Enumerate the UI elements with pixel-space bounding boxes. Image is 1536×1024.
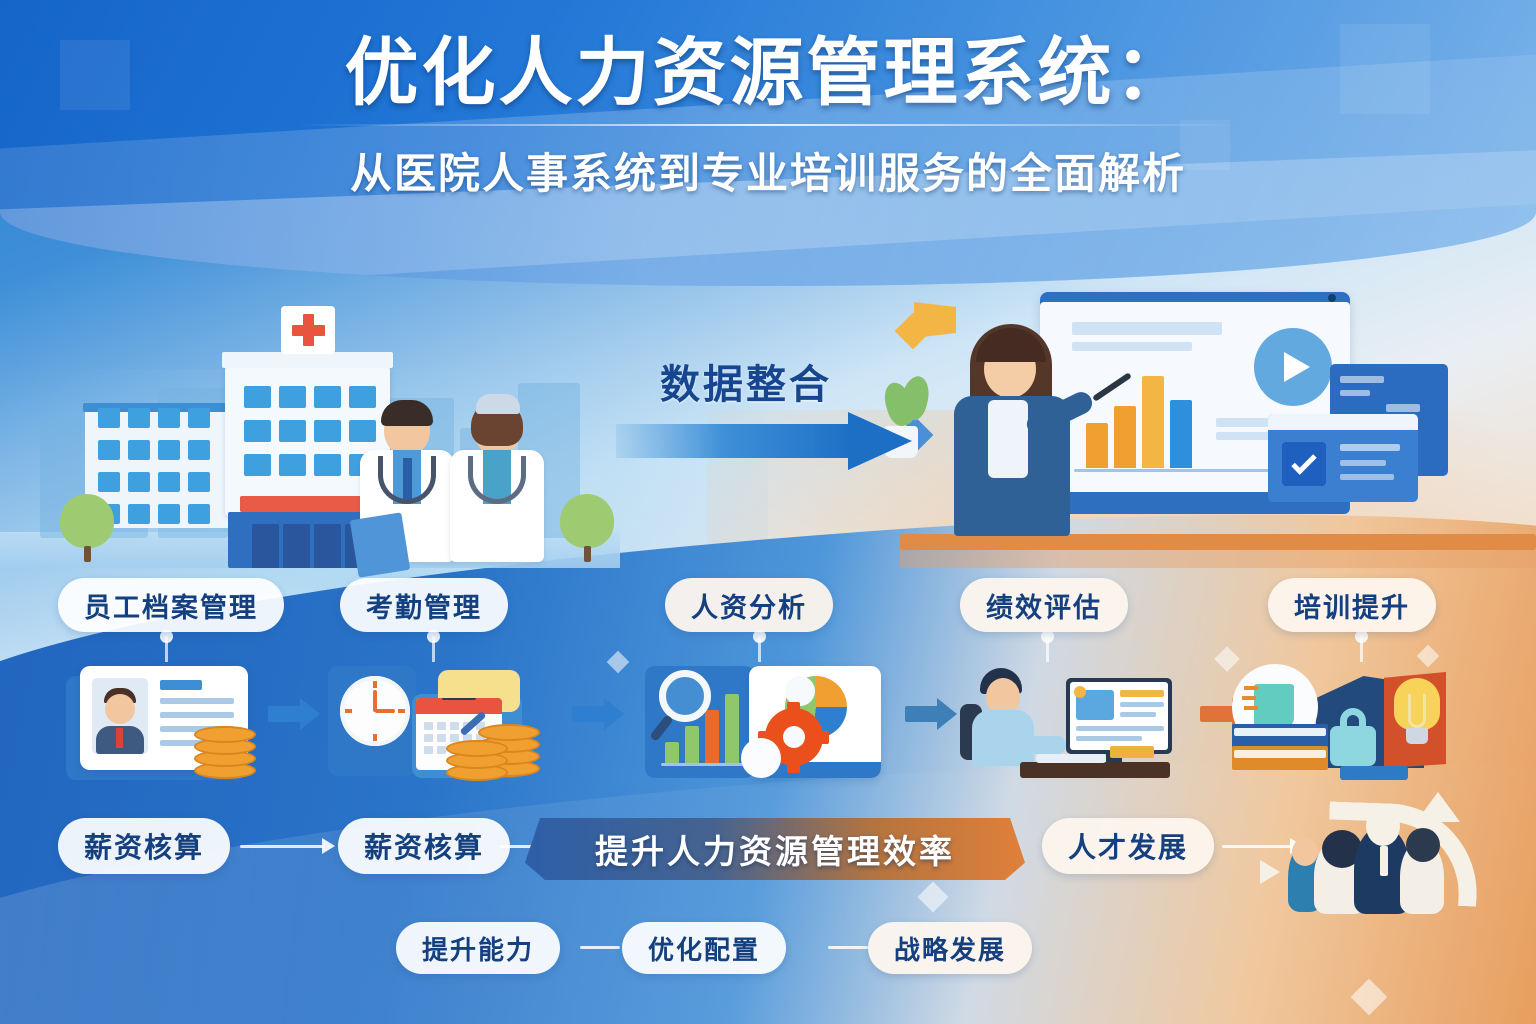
tree-icon [60, 494, 114, 562]
monitor-icon [1066, 678, 1172, 754]
training-icon [1232, 662, 1482, 786]
hospital-door [283, 524, 310, 568]
outcome-pill-1[interactable]: 薪资核算 [58, 818, 230, 874]
growth-arrow-head [1416, 792, 1460, 822]
clock-icon [340, 676, 410, 746]
diamond-decor [1351, 979, 1388, 1016]
benefit-pill-3[interactable]: 战略发展 [868, 922, 1032, 974]
team-growth-illustration [1288, 800, 1488, 912]
workstation-icon [960, 662, 1190, 786]
hospital-roof [222, 352, 393, 368]
stage-pill-4[interactable]: 绩效评估 [960, 578, 1128, 632]
hospital-scene [0, 268, 620, 568]
camera-dot-icon [1328, 294, 1336, 302]
benefit-pill-1[interactable]: 提升能力 [396, 922, 560, 974]
stage-pill-3[interactable]: 人资分析 [665, 578, 833, 632]
hospital-awning [240, 496, 376, 512]
clock-calendar-icon [328, 662, 548, 786]
team-member-head [1406, 828, 1440, 862]
diamond-decor [607, 651, 630, 674]
result-banner-text: 提升人力资源管理效率 [595, 825, 955, 873]
outcome-pill-2[interactable]: 薪资核算 [338, 818, 510, 874]
connector-line [580, 946, 620, 949]
benefit-pill-2[interactable]: 优化配置 [622, 922, 786, 974]
checklist-card-icon [1268, 414, 1418, 502]
team-member-head [1366, 806, 1400, 846]
play-button-icon[interactable] [1254, 328, 1332, 406]
data-flow-arrow-icon [616, 412, 912, 470]
circle-decor [741, 738, 781, 778]
connector-line [240, 845, 324, 848]
hospital-door [314, 524, 341, 568]
desk-surface [900, 534, 1536, 550]
outcome-pill-3[interactable]: 人才发展 [1042, 818, 1214, 874]
diamond-decor [917, 881, 948, 912]
connector-line [1222, 845, 1294, 848]
infographic-poster: 优化人力资源管理系统： 从医院人事系统到专业培训服务的全面解析 [0, 0, 1536, 1024]
stage-pill-1[interactable]: 员工档案管理 [58, 578, 284, 632]
nurse-avatar [450, 406, 544, 562]
magnifier-icon [659, 670, 711, 722]
analytics-icon [645, 662, 885, 786]
stage-pill-5[interactable]: 培训提升 [1268, 578, 1436, 632]
employee-card-icon [66, 662, 266, 786]
keyboard-icon [1036, 754, 1106, 763]
award-shape [1254, 684, 1294, 728]
stage-pill-2[interactable]: 考勤管理 [340, 578, 508, 632]
lock-body [1330, 726, 1376, 766]
title-divider [298, 124, 1238, 126]
desk-icon [1020, 762, 1170, 778]
presenter-avatar [940, 318, 1090, 533]
scene-floor [900, 548, 1536, 568]
connector-arrow-icon [322, 838, 335, 854]
page-title: 优化人力资源管理系统： [0, 34, 1536, 112]
tree-icon [560, 494, 614, 562]
team-member-head [1292, 838, 1318, 866]
title-block: 优化人力资源管理系统： 从医院人事系统到专业培训服务的全面解析 [0, 0, 1536, 201]
presentation-scene [900, 268, 1536, 568]
result-banner: 提升人力资源管理效率 [525, 818, 1025, 880]
connector-line [828, 946, 868, 949]
doctor-avatar [360, 406, 454, 562]
red-cross-icon [292, 325, 325, 336]
page-subtitle: 从医院人事系统到专业培训服务的全面解析 [0, 140, 1536, 201]
connector-line [500, 845, 534, 848]
small-arrow-icon [1260, 860, 1280, 884]
data-integration-label: 数据整合 [660, 352, 832, 410]
hospital-door [252, 524, 279, 568]
